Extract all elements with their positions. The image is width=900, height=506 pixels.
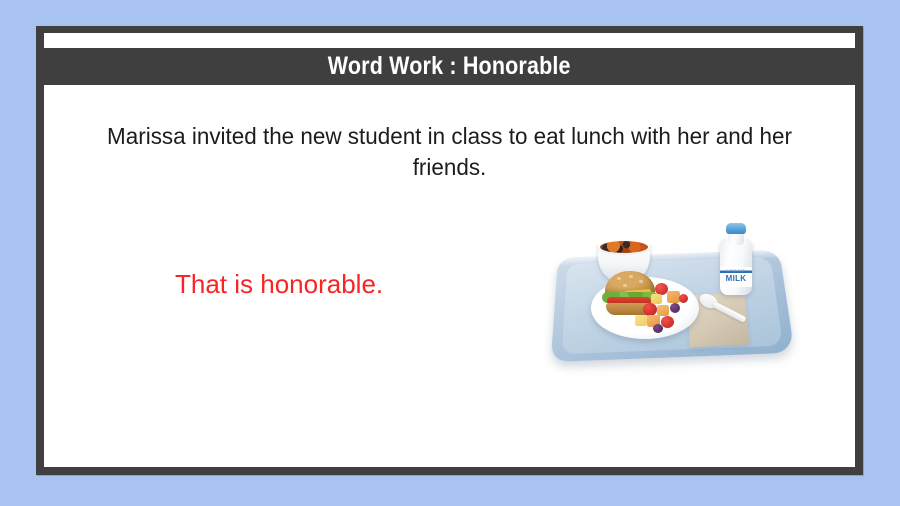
spoon-handle	[712, 301, 747, 322]
pineapple-cube	[635, 315, 647, 326]
milk-label-subtext: LOW FAT	[720, 268, 752, 273]
milk-label-text: MILK	[720, 274, 752, 283]
strawberry	[661, 316, 674, 328]
page-title: Word Work : Honorable	[328, 54, 571, 79]
sentence-text: Marissa invited the new student in class…	[89, 121, 810, 183]
title-bar: Word Work : Honorable	[36, 50, 863, 83]
bun-seed-icon	[623, 284, 627, 287]
strawberry	[679, 294, 688, 303]
milk-bottle: LOW FAT MILK	[718, 223, 754, 295]
school-lunch-tray-photo: LOW FAT MILK	[541, 225, 791, 365]
bun-seed-icon	[639, 280, 643, 283]
grape	[653, 324, 663, 333]
grape	[670, 303, 680, 313]
slide-root: Word Work : Honorable Marissa invited th…	[0, 0, 900, 506]
milk-bottle-cap	[726, 223, 746, 234]
melon-cube	[657, 305, 669, 316]
milk-bottle-label: LOW FAT MILK	[720, 267, 752, 287]
bun-seed-icon	[617, 277, 621, 280]
chili-food	[600, 241, 648, 253]
bun-seed-icon	[629, 275, 633, 278]
answer-text: That is honorable.	[175, 269, 383, 299]
slide-content-area: Marissa invited the new student in class…	[44, 85, 855, 467]
title-strip	[44, 33, 855, 48]
lunch-plate	[591, 277, 699, 339]
